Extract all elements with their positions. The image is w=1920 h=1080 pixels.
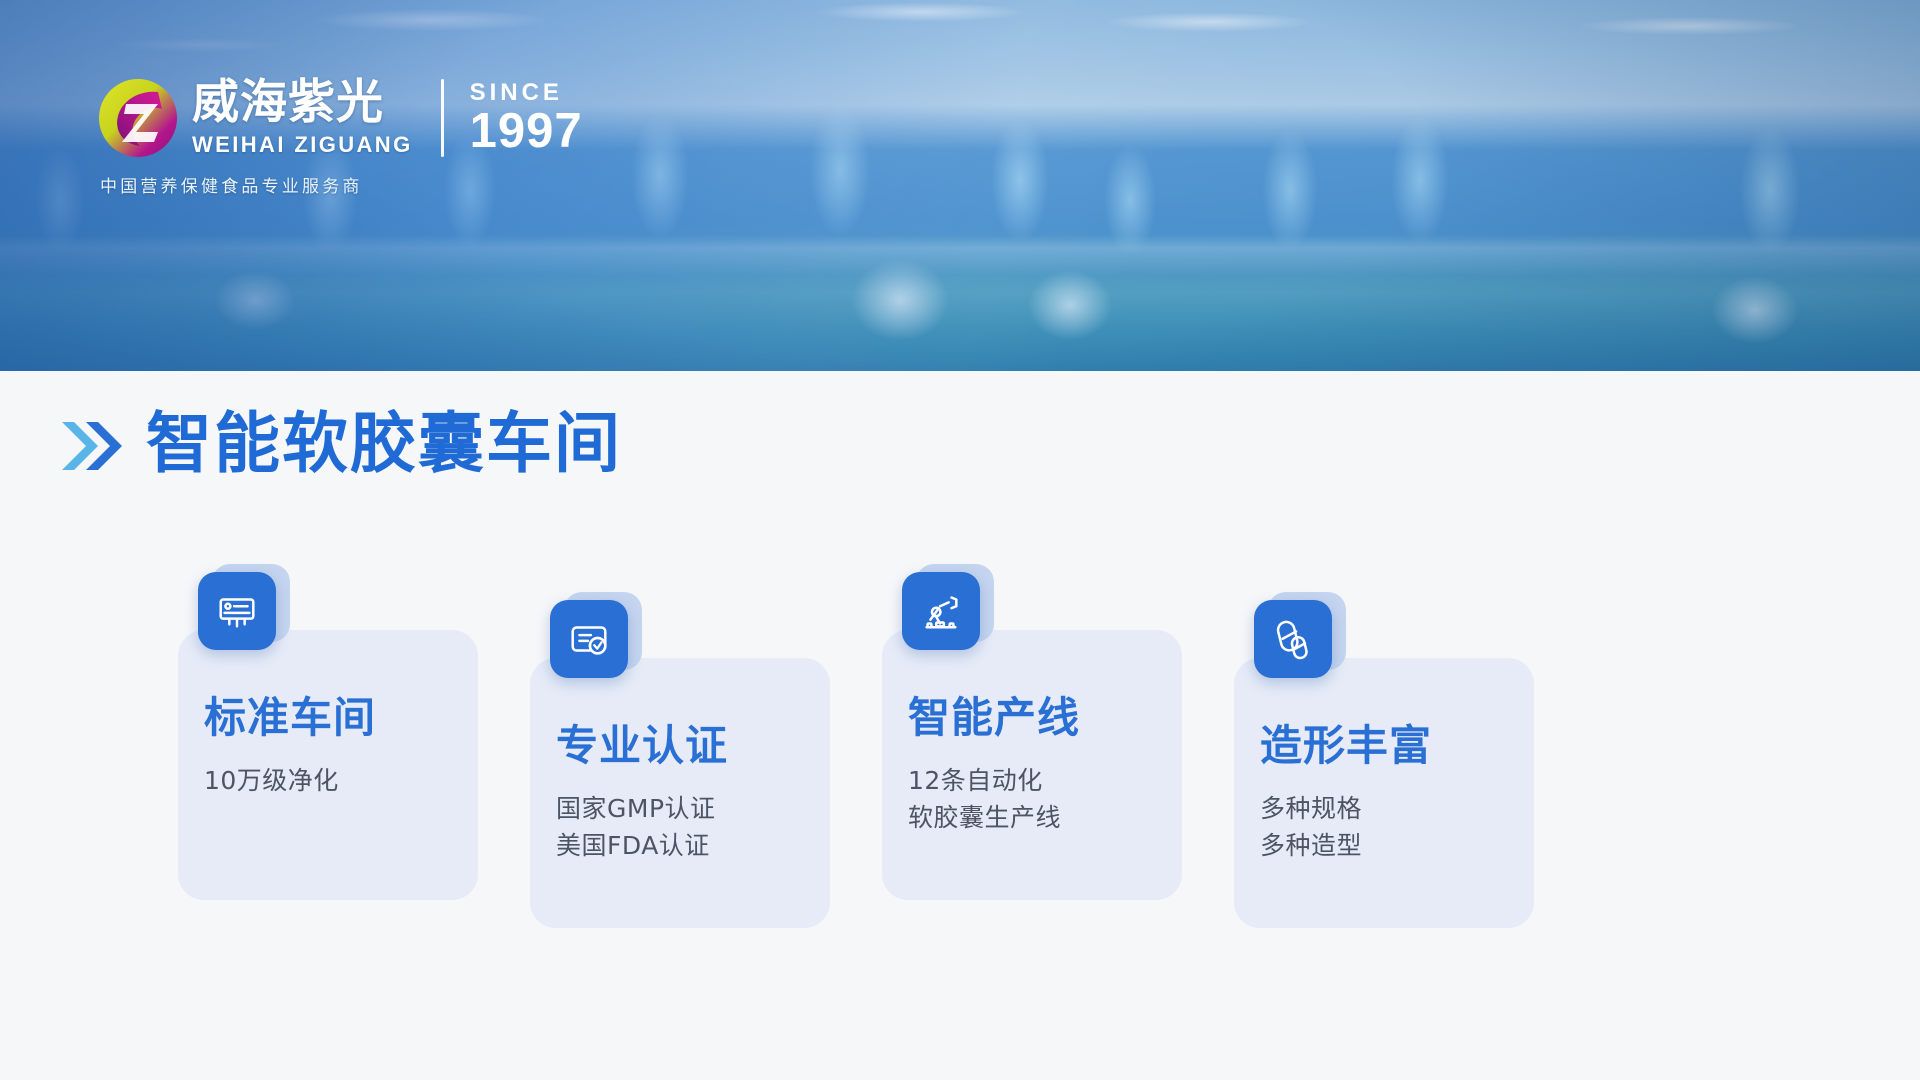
page-title: 智能软胶囊车间 [146,410,622,476]
feature-card-standard-workshop[interactable]: 标准车间 10万级净化 [178,630,478,900]
card-line: 多种规格 [1260,790,1516,827]
hero-banner: 威海紫光 WEIHAI ZIGUANG SINCE 1997 中国营养保健食品专… [0,0,1920,371]
feature-card-list: 标准车间 10万级净化 [178,630,1534,928]
card-title: 智能产线 [908,696,1164,740]
since-year: 1997 [470,108,583,155]
logo-divider [441,79,444,157]
slide-page: 威海紫光 WEIHAI ZIGUANG SINCE 1997 中国营养保健食品专… [0,0,1920,1080]
card-title: 造形丰富 [1260,724,1516,768]
card-body: 造形丰富 多种规格 多种造型 [1260,724,1516,864]
double-chevron-right-icon [60,416,122,476]
card-lines: 多种规格 多种造型 [1260,790,1516,864]
card-lines: 国家GMP认证 美国FDA认证 [556,790,812,864]
feature-card-smart-line[interactable]: 智能产线 12条自动化 软胶囊生产线 [882,630,1182,900]
card-title: 标准车间 [204,696,460,740]
logo-tagline: 中国营养保健食品专业服务商 [100,172,363,197]
card-line: 12条自动化 [908,762,1164,799]
card-line: 软胶囊生产线 [908,799,1164,836]
card-title: 专业认证 [556,724,812,768]
since-label: SINCE [470,81,583,105]
card-lines: 12条自动化 软胶囊生产线 [908,762,1164,836]
robot-arm-icon [902,572,980,650]
card-body: 专业认证 国家GMP认证 美国FDA认证 [556,724,812,864]
card-line: 10万级净化 [204,762,460,799]
logo-name-cn: 威海紫光 [192,78,413,127]
card-body: 标准车间 10万级净化 [204,696,460,799]
card-line: 国家GMP认证 [556,790,812,827]
feature-card-certification[interactable]: 专业认证 国家GMP认证 美国FDA认证 [530,658,830,928]
since-block: SINCE 1997 [470,81,583,155]
air-conditioner-cleanroom-icon [198,572,276,650]
ziguang-circle-z-logo-icon [96,76,180,160]
brand-logo-block: 威海紫光 WEIHAI ZIGUANG SINCE 1997 中国营养保健食品专… [96,76,583,197]
card-body: 智能产线 12条自动化 软胶囊生产线 [908,696,1164,836]
feature-card-shapes[interactable]: 造形丰富 多种规格 多种造型 [1234,658,1534,928]
card-icon-wrap [198,572,290,664]
card-icon-wrap [902,572,994,664]
logo-wordmark: 威海紫光 WEIHAI ZIGUANG [192,78,413,157]
card-line: 多种造型 [1260,827,1516,864]
card-icon-wrap [1254,600,1346,692]
capsule-pills-icon [1254,600,1332,678]
certificate-check-icon [550,600,628,678]
section-heading: 智能软胶囊车间 [60,410,622,476]
card-icon-wrap [550,600,642,692]
logo-row: 威海紫光 WEIHAI ZIGUANG SINCE 1997 [96,76,583,160]
card-line: 美国FDA认证 [556,827,812,864]
logo-name-en: WEIHAI ZIGUANG [192,132,413,158]
card-lines: 10万级净化 [204,762,460,799]
